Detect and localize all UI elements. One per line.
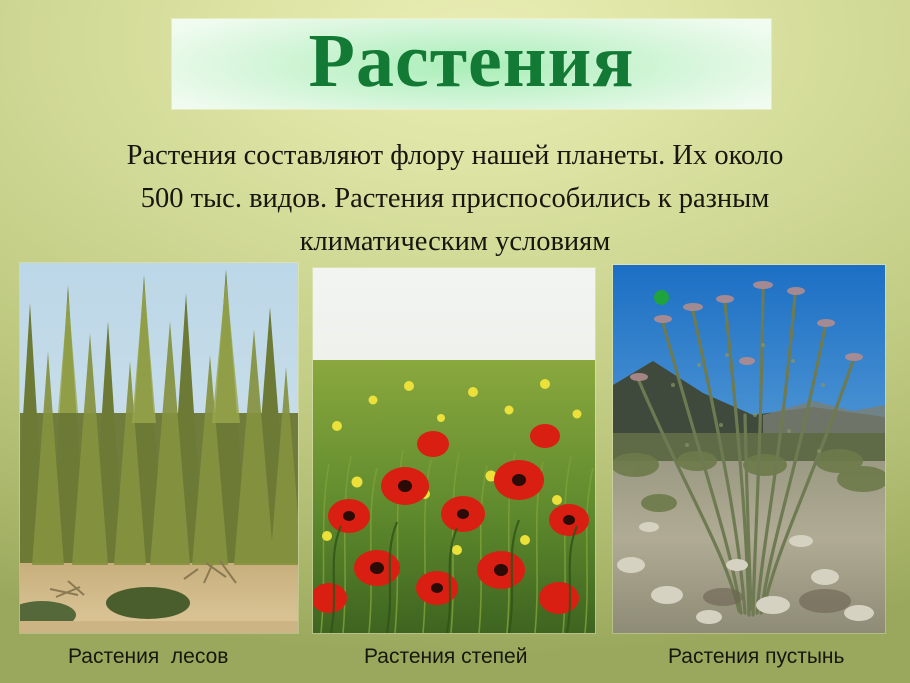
desert-illustration (613, 265, 885, 633)
caption-desert: Растения пустынь (668, 645, 844, 669)
photo-desert (613, 265, 885, 633)
caption-forest: Растения лесов (68, 645, 228, 669)
caption-steppe: Растения степей (364, 645, 527, 669)
photo-forest (20, 263, 298, 633)
forest-illustration (20, 263, 298, 633)
slide-canvas: Растения Растения составляют флору нашей… (0, 0, 910, 683)
steppe-illustration (313, 268, 595, 633)
title-box: Растения (172, 19, 771, 109)
photo-steppe (313, 268, 595, 633)
page-title: Растения (172, 19, 771, 109)
green-bullet-dot (654, 290, 669, 305)
body-paragraph: Растения составляют флору нашей планеты.… (28, 134, 882, 263)
